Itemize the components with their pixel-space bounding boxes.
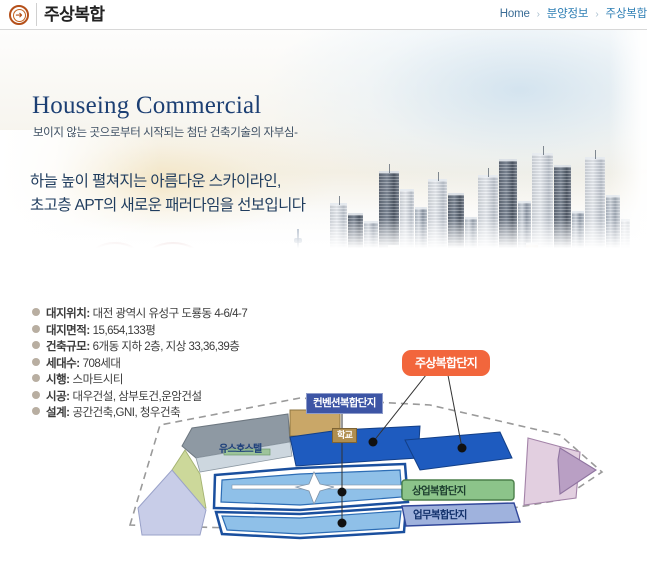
spec-value: 스마트시티 [73,371,123,387]
map-label-main-complex[interactable]: 주상복합단지 [402,350,490,376]
spec-value: 대전 광역시 유성구 도룡동 4-6/4-7 [93,305,248,321]
breadcrumb-level2[interactable]: 분양정보 [547,8,589,20]
bullet-icon [32,374,40,382]
marker-dot-south [338,519,347,528]
map-label-youth-hostel[interactable]: 유스호스텔 [215,443,266,457]
spec-row-household-count: 세대수: 708세대 [32,355,362,372]
spec-value: 708세대 [83,355,121,371]
bullet-icon [32,308,40,316]
bullet-icon [32,341,40,349]
hero-tagline-line2: 초고층 APT의 새로운 패러다임을 선보입니다 [30,194,305,218]
hero-subtitle: 보이지 않는 곳으로부터 시작되는 첨단 건축기술의 자부심- [33,124,298,140]
spec-value: 공간건축,GNI, 청우건축 [73,404,181,420]
marker-dot-central [338,488,347,497]
spec-label: 대지면적: [46,322,90,338]
breadcrumb-separator-icon: › [537,9,540,20]
spec-value: 6개동 지하 2층, 지상 33,36,39층 [93,338,240,354]
circle-arrow-icon: ➜ [9,5,29,25]
map-label-commercial[interactable]: 상업복합단지 [408,484,470,499]
spec-label: 시공: [46,388,70,404]
bullet-icon [32,325,40,333]
marker-dot-northeast [458,444,467,453]
spec-label: 대지위치: [46,305,90,321]
bullet-icon [32,358,40,366]
hero-tagline: 하늘 높이 펼쳐지는 아름다운 스카이라인, 초고층 APT의 새로운 패러다임… [30,170,305,218]
map-label-school[interactable]: 학교 [332,428,357,443]
hero-banner: Houseing Commercial 보이지 않는 곳으로부터 시작되는 첨단… [0,30,647,260]
hero-heading: Houseing Commercial [32,92,261,120]
hero-tagline-line1: 하늘 높이 펼쳐지는 아름다운 스카이라인, [30,170,305,194]
page-title: 주상복합 [44,2,105,28]
bullet-icon [32,407,40,415]
marker-dot-north [369,438,378,447]
spec-label: 설계: [46,404,70,420]
spec-row-building-scale: 건축규모: 6개동 지하 2층, 지상 33,36,39층 [32,338,362,355]
hero-fade-bottom [0,218,647,260]
breadcrumb-separator-icon-2: › [595,9,598,20]
header-divider [36,3,37,26]
spec-row-location: 대지위치: 대전 광역시 유성구 도룡동 4-6/4-7 [32,305,362,322]
breadcrumb-level3: 주상복합 [605,8,647,20]
map-label-business[interactable]: 업무복합단지 [409,508,471,523]
breadcrumb-home[interactable]: Home [500,8,530,20]
spec-label: 세대수: [46,355,80,371]
page-header: ➜ 주상복합 Home › 분양정보 › 주상복합 [0,0,647,30]
spec-label: 건축규모: [46,338,90,354]
spec-label: 시행: [46,371,70,387]
parcel-convention-northeast [405,432,512,470]
breadcrumb: Home › 분양정보 › 주상복합 [500,5,647,21]
bullet-icon [32,391,40,399]
circle-arrow-glyph: ➜ [13,9,26,22]
spec-value: 15,654,133평 [93,322,156,338]
spec-row-site-area: 대지면적: 15,654,133평 [32,322,362,339]
map-label-convention[interactable]: 컨벤션복합단지 [306,393,383,414]
spec-value: 대우건설, 삼부토건,운암건설 [73,388,202,404]
spec-row-developer: 시행: 스마트시티 [32,371,362,388]
